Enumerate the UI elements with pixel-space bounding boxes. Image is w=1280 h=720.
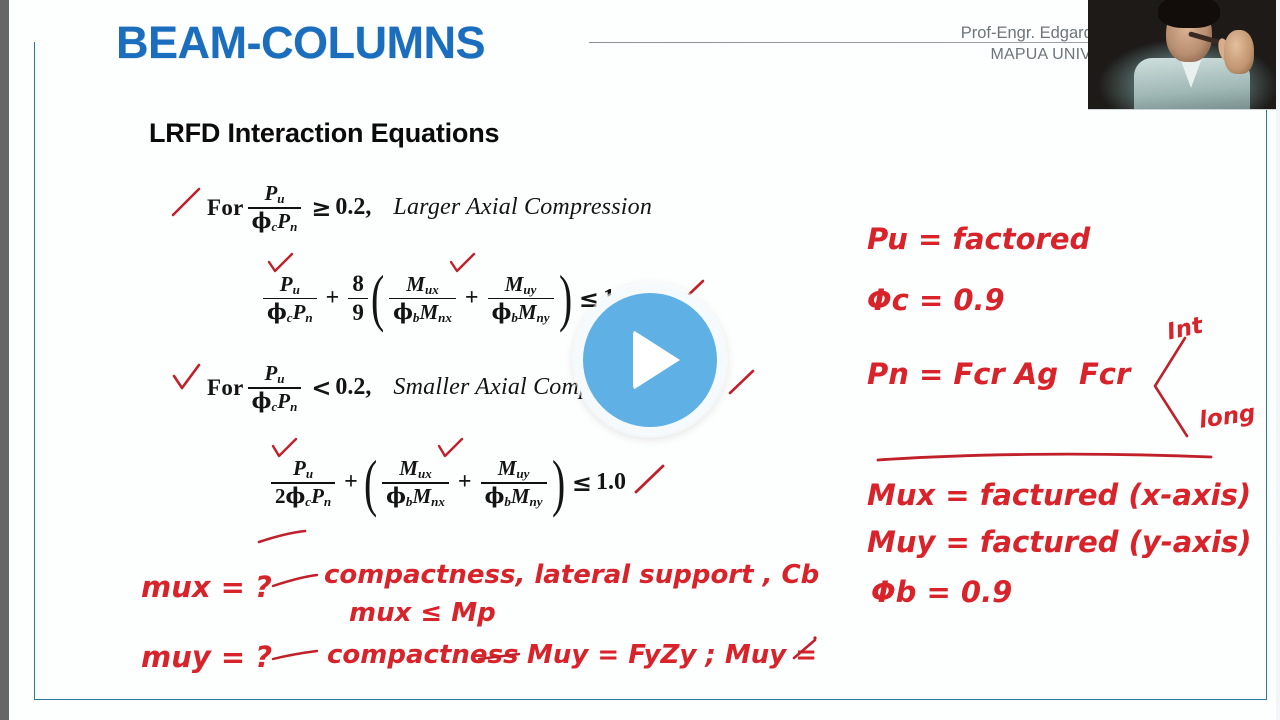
for-word-2: For [207, 375, 244, 401]
play-button[interactable] [574, 284, 726, 436]
mux-sub: ux [418, 466, 432, 481]
page-title: BEAM-COLUMNS [116, 17, 485, 69]
presenter-institution: MAPUA UNIVE [961, 44, 1102, 66]
pu-symbol-2: P [264, 361, 277, 385]
annotation-fcr-label: Fcr [1079, 357, 1130, 391]
phi-b-symbol: ϕ [393, 299, 413, 324]
plus-operator-4: + [453, 469, 477, 496]
annotation-compactness-lateral: compactness, lateral support , Cb [324, 560, 819, 590]
muy-sub: uy [516, 466, 529, 481]
for-word-1: For [207, 195, 244, 221]
interaction-equation-2: Pu 2ϕcPn + ( Mux ϕbMnx + Muy ϕbMny ) ≤ 1… [267, 457, 626, 509]
two-coefficient: 2 [275, 484, 286, 508]
mux-symbol: M [399, 456, 418, 480]
result-relation-2: ≤ [566, 468, 596, 497]
threshold-value-1: 0.2, [335, 194, 371, 221]
muy-sub: uy [523, 281, 536, 296]
checkmark-icon-eq2-result [633, 463, 667, 495]
webcam-person-hand [1224, 30, 1254, 74]
relation-symbol-1: ≥ [305, 193, 335, 222]
pn-symbol-1: P [277, 209, 290, 233]
mux-symbol: M [406, 272, 425, 296]
horizontal-divider-stroke [875, 450, 1215, 464]
coefficient-numerator: 8 [348, 272, 368, 296]
pu-symbol: P [293, 456, 306, 480]
webcam-overlay[interactable] [1088, 0, 1280, 110]
mny-symbol: M [511, 484, 530, 508]
term-pu-over-2phicpn: Pu 2ϕcPn [271, 457, 335, 509]
annotation-pu-factored: Pu = factored [867, 222, 1090, 256]
phi-b-symbol: ϕ [485, 483, 505, 508]
left-paren-1: ( [371, 275, 384, 321]
slide-canvas: BEAM-COLUMNS Prof-Engr. Edgardo MAPUA UN… [9, 0, 1280, 720]
right-paren-1: ) [559, 275, 572, 321]
annotation-muy-question: muy = ? [141, 640, 272, 674]
slide-viewport: BEAM-COLUMNS Prof-Engr. Edgardo MAPUA UN… [0, 0, 1280, 720]
mnx-sub: nx [431, 494, 445, 509]
checkmark-icon-condition-1 [169, 183, 205, 219]
underline-stroke-2phic [257, 528, 309, 546]
annotation-branch-long: long [1197, 400, 1257, 434]
annotation-pn-fcr-ag: Pn = Fcr Ag [867, 357, 1058, 391]
term-mux-over-phibmnx-2: Mux ϕbMnx [382, 457, 449, 509]
dash-stroke-1 [271, 572, 319, 590]
phi-b-symbol: ϕ [386, 483, 406, 508]
muy-symbol: M [498, 456, 517, 480]
pn-sub-2: n [290, 399, 297, 414]
coefficient-eight-ninths: 8 9 [348, 272, 368, 325]
mny-sub: ny [530, 494, 543, 509]
phi-c-symbol: ϕ [286, 483, 306, 508]
result-value-2: 1.0 [596, 469, 626, 496]
ratio-pu-phicpn-1: Pu ϕcPn [248, 182, 302, 234]
presenter-name: Prof-Engr. Edgardo [961, 22, 1102, 44]
annotation-mux-question: mux = ? [141, 570, 272, 604]
right-paren-2: ) [552, 460, 565, 506]
phi-b-symbol: ϕ [492, 299, 512, 324]
mnx-sub: nx [438, 310, 452, 325]
mnx-symbol: M [419, 300, 438, 324]
annotation-phib-value: Φb = 0.9 [871, 575, 1012, 609]
plus-operator-1: + [321, 285, 345, 312]
left-letterbox-strip [0, 0, 9, 720]
section-heading: LRFD Interaction Equations [149, 118, 499, 149]
pn-symbol-2: P [277, 389, 290, 413]
term-muy-over-phibmny-2: Muy ϕbMny [481, 457, 547, 509]
mux-sub: ux [425, 281, 439, 296]
pu-sub-1: u [277, 191, 284, 206]
presenter-credit: Prof-Engr. Edgardo MAPUA UNIVE [961, 22, 1102, 66]
annotation-muy-factored: Muy = factured (y-axis) [867, 525, 1252, 559]
annotation-mux-le-mp: mux ≤ Mp [349, 598, 496, 628]
checkmark-icon-condition-2 [172, 363, 202, 393]
annotation-muy-fyzy: Muy = FyZy ; Muy = [527, 640, 817, 670]
dash-stroke-2 [271, 648, 319, 664]
muy-symbol: M [505, 272, 524, 296]
annotation-mux-factored: Mux = factured (x-axis) [867, 478, 1251, 512]
term-mux-over-phibmnx-1: Mux ϕbMnx [389, 273, 456, 325]
left-paren-2: ( [364, 460, 377, 506]
plus-operator-2: + [460, 285, 484, 312]
mny-sub: ny [537, 310, 550, 325]
pn-sub: n [305, 310, 312, 325]
pn-symbol: P [311, 484, 324, 508]
pn-symbol: P [293, 300, 306, 324]
annotation-branch-int: Int [1165, 313, 1206, 346]
annotation-phic-value: Φc = 0.9 [867, 283, 1005, 317]
ratio-pu-phicpn-2: Pu ϕcPn [248, 362, 302, 414]
webcam-person-hair [1158, 0, 1220, 28]
coefficient-denominator: 9 [348, 301, 368, 325]
pn-sub-1: n [290, 219, 297, 234]
pn-sub: n [324, 494, 331, 509]
condition-note-1: Larger Axial Compression [393, 194, 652, 221]
checkmark-icon-eq2-note [727, 368, 757, 396]
right-letterbox-strip [1276, 0, 1280, 720]
pu-sub: u [306, 466, 313, 481]
pu-symbol: P [280, 272, 293, 296]
pu-sub-2: u [277, 371, 284, 386]
pu-sub: u [293, 281, 300, 296]
equation-condition-1: For Pu ϕcPn ≥ 0.2, Larger Axial Compress… [207, 182, 652, 234]
mny-symbol: M [518, 300, 537, 324]
relation-symbol-2: < [305, 373, 335, 402]
plus-operator-3: + [339, 469, 363, 496]
interaction-equation-1: Pu ϕcPn + 8 9 ( Mux ϕbMnx + Muy ϕbMny [259, 272, 633, 325]
term-pu-over-phicpn: Pu ϕcPn [263, 273, 317, 325]
play-triangle-icon [633, 330, 680, 390]
pu-symbol-1: P [264, 181, 277, 205]
threshold-value-2: 0.2, [335, 374, 371, 401]
annotation-compactness-2: compactness [327, 640, 518, 670]
term-muy-over-phibmny-1: Muy ϕbMny [488, 273, 554, 325]
phi-c-symbol-2: ϕ [252, 388, 272, 413]
mnx-symbol: M [412, 484, 431, 508]
phi-c-symbol: ϕ [267, 299, 287, 324]
phi-c-symbol-1: ϕ [252, 208, 272, 233]
